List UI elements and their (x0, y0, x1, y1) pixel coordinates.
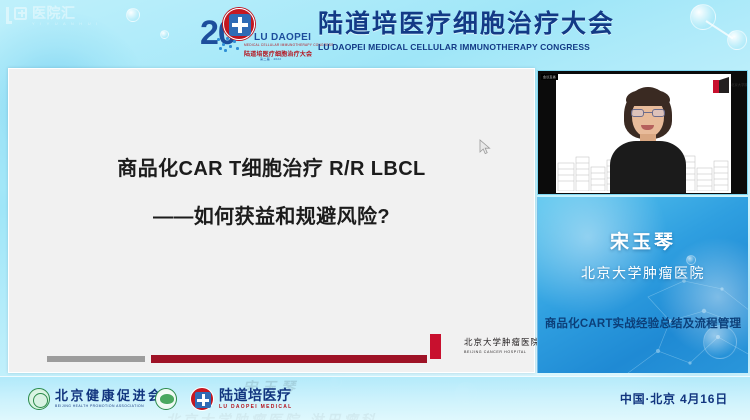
bhpa-label-en: BEIJING HEALTH PROMOTION ASSOCIATION (55, 405, 164, 408)
emblem-edition: 第二届 · 2022 (260, 57, 281, 61)
decorative-cell-dots (217, 36, 239, 52)
hospital-logo-label-en: BEIJING CANCER HOSPITAL (464, 351, 540, 355)
footer-top-divider (0, 376, 750, 377)
slide-title-line-1: 商品化CAR T细胞治疗 R/R LBCL (9, 157, 534, 181)
channel-watermark: 医院汇 Y I Y U A N H U I (6, 6, 99, 26)
divider-segment-red (151, 355, 427, 363)
hospital-hub-logo-icon (6, 6, 28, 26)
panel-speaker-affiliation: 北京大学肿瘤医院 (538, 263, 748, 283)
conference-emblem: 20 LU DAOPEI MEDICAL CELLULAR IMMUNOTHER… (200, 6, 318, 62)
conference-header: 医院汇 Y I Y U A N H U I 20 LU DAOPEI MEDIC… (0, 0, 750, 66)
medical-cross-badge-icon (190, 387, 214, 411)
panel-speaker-name: 宋玉琴 (538, 227, 748, 254)
panel-talk-topic: 商品化CART实战经验总结及流程管理 (538, 315, 748, 331)
speaker-info-panel: 宋玉琴 北京大学肿瘤医院 商品化CART实战经验总结及流程管理 (537, 197, 748, 373)
watermark-label-en: Y I Y U A N H U I (32, 22, 99, 26)
beijing-cancer-hospital-logo-icon: 北京大学肿瘤医院 (713, 77, 739, 93)
beijing-cancer-hospital-logo-icon: 北京大学肿瘤医院 BEIJING CANCER HOSPITAL (430, 331, 526, 363)
ludaopei-label-en: LU DAOPEI MEDICAL (219, 405, 293, 410)
hospital-logo-label-cn: 北京大学肿瘤医院 (464, 339, 540, 348)
ludaopei-label-cn: 陆道培医疗 (219, 388, 293, 402)
video-overlay-tag: 会议直播 (541, 74, 558, 80)
conference-title-block: 陆道培医疗细胞治疗大会 LU DAOPEI MEDICAL CELLULAR I… (318, 10, 615, 52)
bhpa-logo: 北京健康促进会 BEIJING HEALTH PROMOTION ASSOCIA… (28, 388, 164, 410)
bhpa-label-cn: 北京健康促进会 (55, 389, 164, 402)
mouse-pointer-icon (479, 139, 491, 155)
speaker-portrait (610, 87, 686, 193)
conference-footer: 北京健康促进会 BEIJING HEALTH PROMOTION ASSOCIA… (0, 376, 750, 420)
ludaopei-medical-logo: 陆道培医疗 LU DAOPEI MEDICAL (190, 387, 293, 411)
bhpa-seal-icon (28, 388, 50, 410)
conference-title-en: LU DAOPEI MEDICAL CELLULAR IMMUNOTHERAPY… (318, 42, 615, 52)
emblem-brand-en: LU DAOPEI (254, 32, 311, 43)
watermark-label-cn: 医院汇 (32, 6, 99, 20)
green-circular-emblem-icon (155, 388, 177, 410)
conference-title-cn: 陆道培医疗细胞治疗大会 (318, 10, 615, 39)
video-corner-logo-label: 北京大学肿瘤医院 (731, 82, 748, 87)
divider-segment-gray (47, 356, 145, 362)
event-location-date: 中国·北京 4月16日 (620, 390, 728, 407)
presentation-slide[interactable]: 商品化CAR T细胞治疗 R/R LBCL ——如何获益和规避风险? 北京大学肿… (8, 68, 535, 373)
slide-title: 商品化CAR T细胞治疗 R/R LBCL ——如何获益和规避风险? (9, 157, 534, 229)
eyeglasses (631, 109, 665, 118)
speaker-video-feed[interactable]: 北京大学肿瘤医院 会议直播 (537, 70, 748, 195)
slide-title-line-2: ——如何获益和规避风险? (9, 205, 534, 229)
livestream-screen: 医院汇 Y I Y U A N H U I 20 LU DAOPEI MEDIC… (0, 0, 750, 420)
